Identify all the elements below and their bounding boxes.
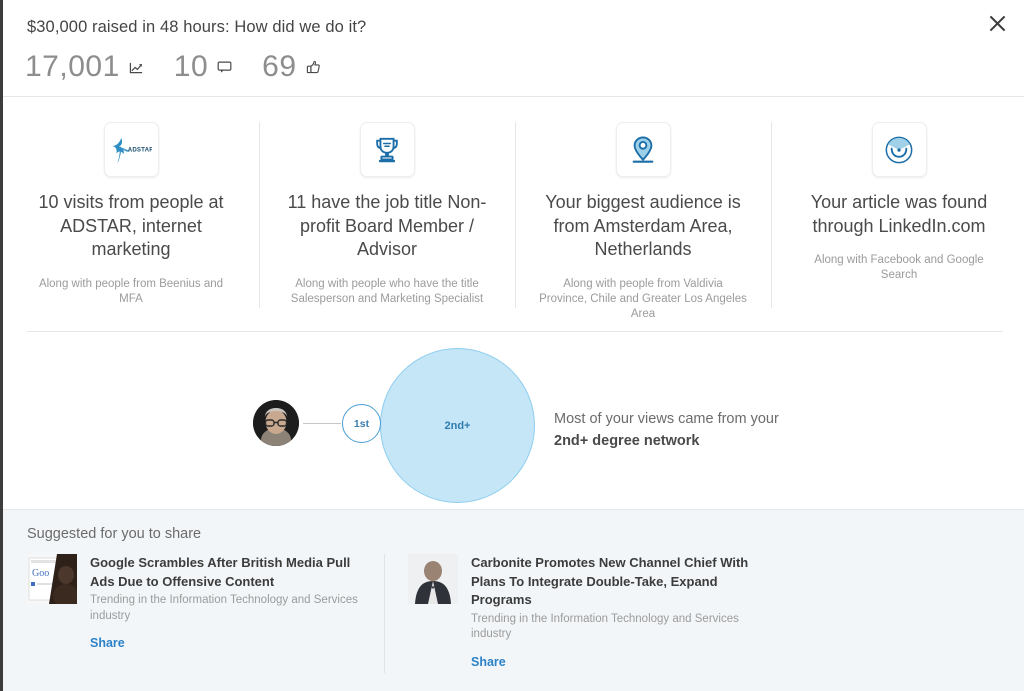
article-analytics-panel: $30,000 raised in 48 hours: How did we d… [0, 0, 1024, 691]
insight-subtext: Along with people from Valdivia Province… [539, 277, 747, 322]
location-pin-icon [616, 122, 671, 177]
close-button[interactable] [980, 6, 1014, 40]
stat-comments: 10 [174, 50, 232, 84]
suggested-meta: Trending in the Information Technology a… [90, 593, 360, 624]
suggested-body: Carbonite Promotes New Channel Chief Wit… [471, 554, 760, 671]
insight-headline: Your biggest audience is from Amsterdam … [539, 191, 747, 262]
network-caption-strong: 2nd+ degree network [554, 433, 699, 449]
insight-card-source: Your article was found through LinkedIn.… [771, 110, 1024, 322]
views-count: 17,001 [25, 50, 120, 84]
insight-subtext: Along with Facebook and Google Search [795, 253, 1003, 283]
suggested-headline: Carbonite Promotes New Channel Chief Wit… [471, 554, 760, 610]
stat-views: 17,001 [25, 50, 144, 84]
insight-headline: 10 visits from people at ADSTAR, interne… [27, 191, 235, 262]
svg-text:Goo: Goo [32, 568, 49, 579]
carbonite-person-thumbnail [408, 554, 458, 604]
stat-likes: 69 [262, 50, 320, 84]
network-caption-lead: Most of your views came from your [554, 411, 779, 427]
insight-subtext: Along with people from Beenius and MFA [27, 277, 235, 307]
insight-headline: 11 have the job title Non-profit Board M… [283, 191, 491, 262]
insight-headline: Your article was found through LinkedIn.… [795, 191, 1003, 238]
page-title: $30,000 raised in 48 hours: How did we d… [27, 18, 366, 37]
first-degree-circle: 1st [342, 404, 381, 443]
insight-card-job-title: 11 have the job title Non-profit Board M… [259, 110, 515, 322]
analytics-chart-icon [129, 60, 144, 75]
section-divider [27, 331, 1003, 332]
radar-signal-icon [872, 122, 927, 177]
suggested-list: Goo Google Scrambles After British Media… [3, 554, 1024, 671]
list-item[interactable]: Carbonite Promotes New Channel Chief Wit… [384, 554, 784, 671]
suggested-body: Google Scrambles After British Media Pul… [90, 554, 360, 671]
network-connector-line [303, 423, 341, 424]
suggested-title: Suggested for you to share [27, 526, 201, 542]
suggested-headline: Google Scrambles After British Media Pul… [90, 554, 360, 591]
insight-card-location: Your biggest audience is from Amsterdam … [515, 110, 771, 322]
likes-count: 69 [262, 50, 296, 84]
insight-cards: ADSTAR 10 visits from people at ADSTAR, … [3, 110, 1024, 322]
thumbs-up-icon [306, 60, 321, 75]
second-degree-circle: 2nd+ [380, 348, 535, 503]
trophy-icon [360, 122, 415, 177]
close-icon [989, 15, 1006, 32]
stats-row: 17,001 10 [25, 50, 351, 84]
insight-card-company: ADSTAR 10 visits from people at ADSTAR, … [3, 110, 259, 322]
google-article-thumbnail: Goo [27, 554, 77, 604]
adstar-company-logo-icon: ADSTAR [104, 122, 159, 177]
avatar [253, 400, 299, 446]
share-button[interactable]: Share [471, 655, 506, 669]
panel-header: $30,000 raised in 48 hours: How did we d… [3, 0, 1024, 97]
list-item[interactable]: Goo Google Scrambles After British Media… [3, 554, 384, 671]
suggested-meta: Trending in the Information Technology a… [471, 612, 760, 643]
network-caption: Most of your views came from your 2nd+ d… [554, 408, 814, 452]
suggested-section: Suggested for you to share Goo [3, 509, 1024, 691]
comment-bubble-icon [217, 61, 232, 74]
comments-count: 10 [174, 50, 208, 84]
svg-text:ADSTAR: ADSTAR [128, 146, 152, 153]
insight-subtext: Along with people who have the title Sal… [283, 277, 491, 307]
share-button[interactable]: Share [90, 636, 125, 650]
